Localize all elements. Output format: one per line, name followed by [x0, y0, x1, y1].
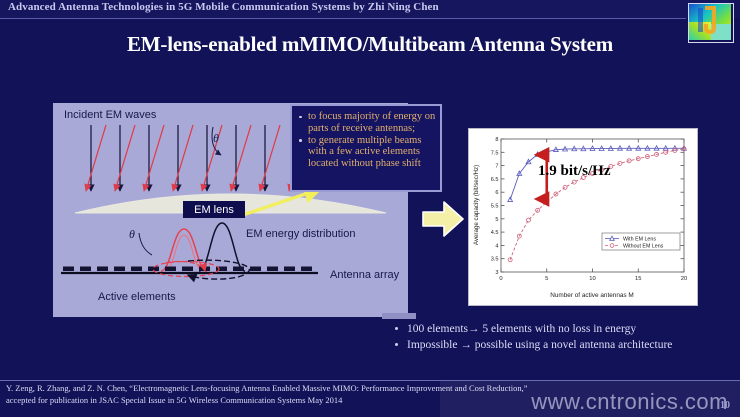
callout-bullet-list: to focus majority of energy on parts of …: [292, 106, 440, 170]
svg-text:6: 6: [495, 190, 498, 196]
bottom-bullet-item: 100 elements→ 5 elements with no loss in…: [392, 321, 740, 337]
svg-text:4: 4: [495, 243, 498, 249]
svg-text:With EM Lens: With EM Lens: [623, 237, 656, 243]
em-energy-distribution-label: EM energy distribution: [246, 228, 355, 240]
svg-text:3.5: 3.5: [491, 257, 499, 263]
theta-top-label: θ: [213, 131, 219, 146]
antenna-array-label: Antenna array: [330, 269, 399, 281]
header-divider: [0, 18, 686, 19]
theta-bottom-label: θ: [129, 227, 135, 242]
svg-text:7.5: 7.5: [491, 150, 499, 156]
callout-bullet-item: to focus majority of energy on parts of …: [297, 111, 436, 135]
capacity-gap-annotation: 1.9 bit/s/Hz: [538, 163, 611, 180]
bottom-bullet-item: Impossible → possible using a novel ante…: [392, 337, 740, 353]
svg-text:15: 15: [635, 276, 641, 282]
chart-y-axis-label: Average capacity (bit/sec/Hz): [473, 165, 480, 245]
svg-text:20: 20: [681, 276, 687, 282]
slide-root: Advanced Antenna Technologies in 5G Mobi…: [0, 0, 740, 417]
svg-text:0: 0: [499, 276, 502, 282]
site-watermark: www.cntronics.com: [531, 389, 728, 415]
accent-tab-marker: [382, 313, 416, 319]
lens-benefits-callout: to focus majority of energy on parts of …: [290, 104, 442, 192]
bottom-bullets: 100 elements→ 5 elements with no loss in…: [392, 321, 740, 353]
chart-svg: 0510152033.544.555.566.577.58With EM Len…: [469, 129, 697, 305]
svg-text:4.5: 4.5: [491, 230, 499, 236]
bottom-bullet-list: 100 elements→ 5 elements with no loss in…: [392, 321, 740, 353]
capacity-chart: 0510152033.544.555.566.577.58With EM Len…: [468, 128, 698, 306]
svg-text:3: 3: [495, 270, 498, 276]
callout-bullet-item: to generate multiple beams with a few ac…: [297, 135, 436, 170]
svg-text:5: 5: [495, 217, 498, 223]
svg-text:Without EM Lens: Without EM Lens: [623, 244, 664, 250]
svg-text:5.5: 5.5: [491, 204, 499, 210]
page-number: 10: [720, 400, 730, 411]
svg-text:7: 7: [495, 164, 498, 170]
em-lens-label: EM lens: [183, 201, 245, 218]
svg-text:5: 5: [545, 276, 548, 282]
header-title: Advanced Antenna Technologies in 5G Mobi…: [8, 1, 439, 13]
svg-text:8: 8: [495, 137, 498, 143]
svg-text:10: 10: [589, 276, 595, 282]
active-elements-label: Active elements: [98, 291, 176, 303]
page-title: EM-lens-enabled mMIMO/Multibeam Antenna …: [0, 32, 740, 57]
chart-x-axis-label: Number of active antennas M: [550, 292, 633, 299]
right-block-arrow-icon: [420, 196, 466, 242]
svg-text:6.5: 6.5: [491, 177, 499, 183]
